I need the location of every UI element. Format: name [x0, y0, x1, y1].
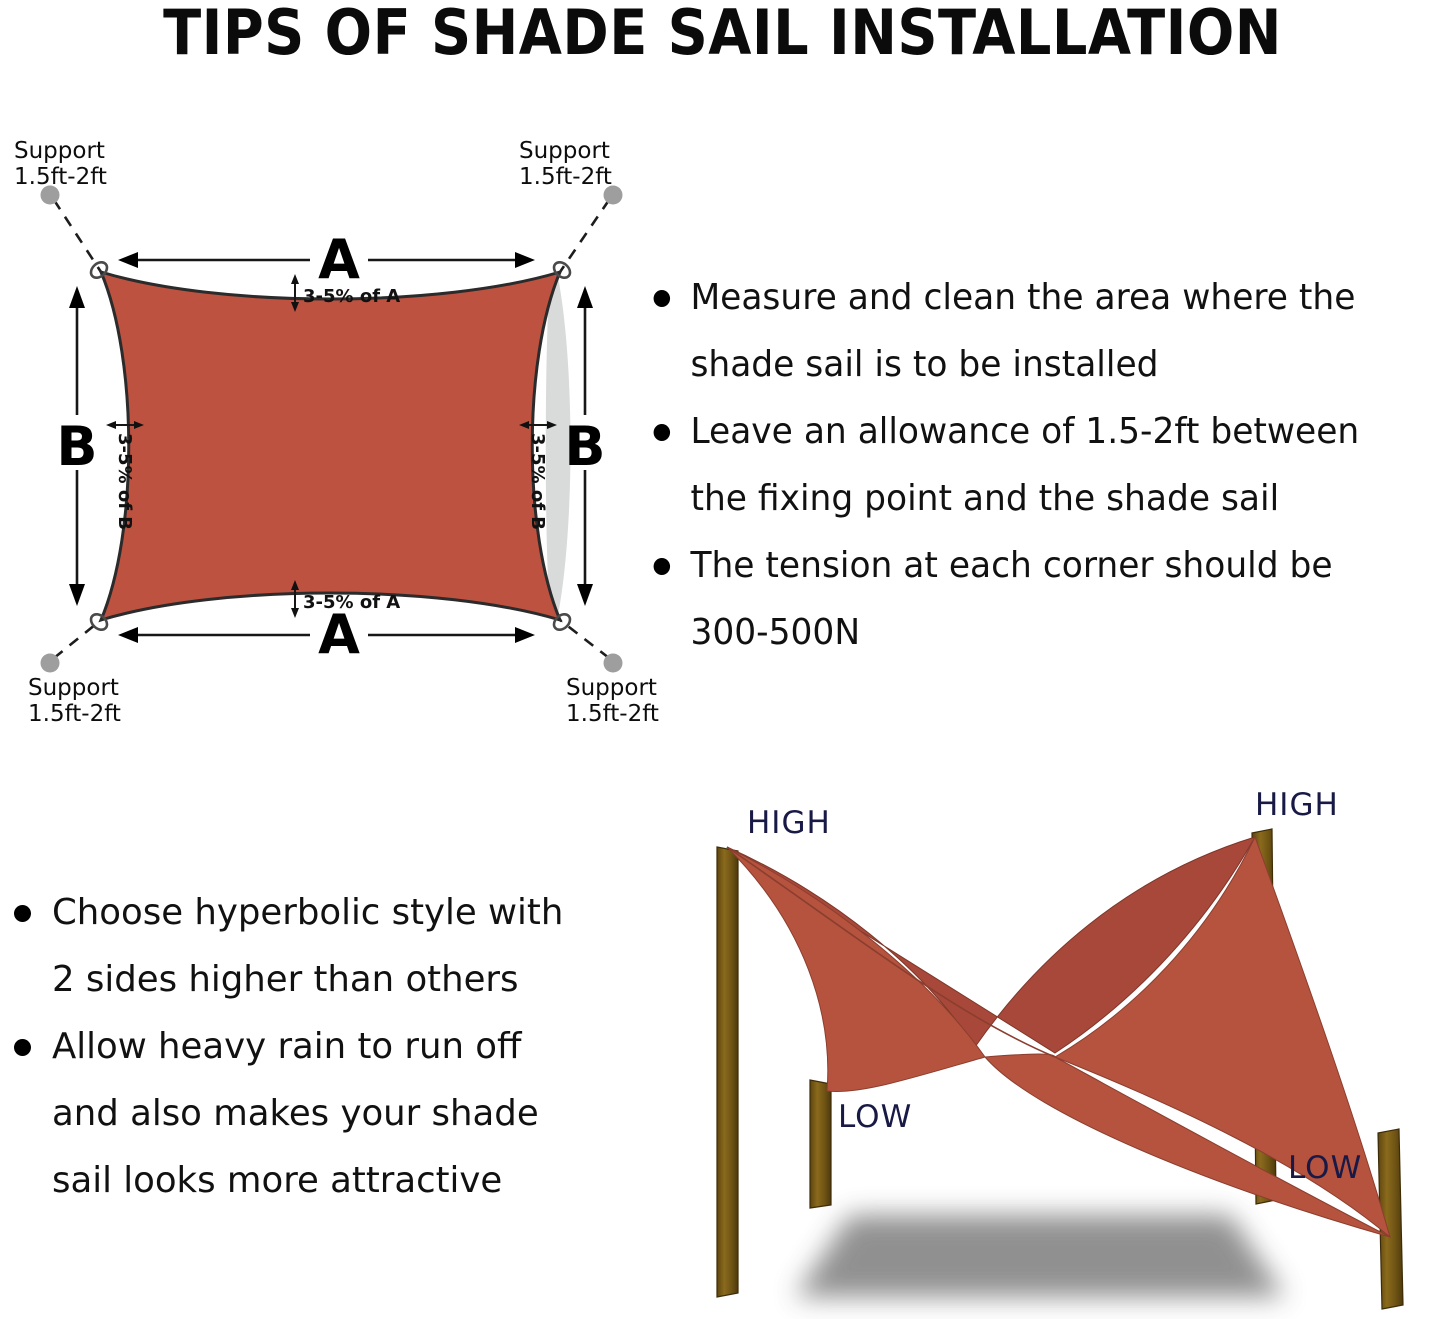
sag-top-a-arrow-up	[291, 274, 299, 284]
dim-bottom-a-arrow-left	[118, 627, 138, 643]
tip-line: 2 sides higher than others	[52, 959, 519, 1000]
support-bottom-right-line1: Support	[566, 675, 657, 701]
tip-line: Measure and clean the area where the	[690, 277, 1355, 318]
tip-item: Measure and clean the area where the	[640, 265, 1421, 330]
support-text-bottom-left: Support 1.5ft-2ft	[28, 675, 121, 727]
tip-line: The tension at each corner should be	[690, 545, 1332, 586]
dim-label-right-b: B	[564, 415, 605, 478]
installation-tips-panel: Measure and clean the area where the sha…	[640, 265, 1445, 665]
dim-left-b-arrow-down	[69, 584, 85, 606]
support-dot-bottom-right	[604, 654, 623, 673]
support-bottom-left-line1: Support	[28, 675, 119, 701]
hyperbolic-tips-list: Choose hyperbolic style with 2 sides hig…	[0, 880, 640, 1213]
tip-item: Leave an allowance of 1.5-2ft between	[640, 399, 1421, 464]
hyperbolic-sail-svg: HIGH HIGH LOW LOW	[655, 785, 1445, 1319]
sag-label-left-b: 3-5% of B	[114, 433, 135, 530]
tip-line: Leave an allowance of 1.5-2ft between	[690, 411, 1359, 452]
sag-bottom-a-arrow-down	[291, 608, 299, 618]
sag-label-right-b: 3-5% of B	[527, 433, 548, 530]
label-low-right: LOW	[1288, 1150, 1362, 1186]
tip-item-cont: 300-500N	[640, 600, 1421, 665]
support-text-top-left: Support 1.5ft-2ft	[14, 138, 107, 190]
label-low-left: LOW	[838, 1099, 912, 1135]
dim-left-b-arrow-up	[69, 286, 85, 308]
hyperbolic-tips-panel: Choose hyperbolic style with 2 sides hig…	[0, 880, 640, 1220]
sag-left-b-arrow-left	[106, 421, 116, 429]
dim-label-left-b: B	[56, 415, 97, 478]
rect-sail-diagram-panel: A 3-5% of A A 3-5% of A	[0, 160, 660, 740]
tether-top-right	[560, 200, 609, 272]
tip-line: shade sail is to be installed	[690, 344, 1158, 385]
tip-item-cont: sail looks more attractive	[0, 1148, 640, 1213]
tip-line: 300-500N	[690, 612, 860, 653]
support-top-right-line1: Support	[519, 138, 610, 164]
page-title: TIPS OF SHADE SAIL INSTALLATION	[72, 0, 1373, 69]
sag-label-bottom-a: 3-5% of A	[303, 592, 400, 613]
bullet-icon	[14, 905, 31, 922]
tip-item-cont: the fixing point and the shade sail	[640, 466, 1421, 531]
bullet-icon	[654, 558, 670, 575]
support-dot-bottom-left	[41, 654, 60, 673]
bullet-icon	[654, 290, 670, 307]
bullet-icon	[14, 1039, 31, 1056]
dim-bottom-a-arrow-right	[515, 627, 535, 643]
tip-line: Choose hyperbolic style with	[52, 892, 563, 933]
post-left-high	[717, 847, 738, 1297]
shade-sail-installation-infographic: TIPS OF SHADE SAIL INSTALLATION	[0, 0, 1445, 1319]
bullet-icon	[654, 424, 670, 441]
support-bottom-left-line2: 1.5ft-2ft	[28, 701, 121, 727]
tether-top-left	[54, 200, 101, 272]
dim-right-b-arrow-down	[577, 584, 593, 606]
dim-label-top-a: A	[318, 228, 360, 291]
support-top-right-line2: 1.5ft-2ft	[519, 164, 612, 190]
tip-item: Choose hyperbolic style with	[0, 880, 640, 945]
sail-lobe-front-left	[727, 847, 985, 1092]
label-high-right: HIGH	[1255, 787, 1339, 823]
tip-line: the fixing point and the shade sail	[690, 478, 1279, 519]
tip-item-cont: 2 sides higher than others	[0, 947, 640, 1012]
shade-sail-shape	[101, 272, 560, 620]
tip-line: and also makes your shade	[52, 1093, 539, 1134]
support-top-left-line2: 1.5ft-2ft	[14, 164, 107, 190]
support-bottom-right-line2: 1.5ft-2ft	[566, 701, 659, 727]
support-text-bottom-right: Support 1.5ft-2ft	[566, 675, 659, 727]
dim-top-a-arrow-left	[118, 252, 138, 268]
tip-item: Allow heavy rain to run off	[0, 1014, 640, 1079]
support-text-top-right: Support 1.5ft-2ft	[519, 138, 612, 190]
dim-right-b-arrow-up	[577, 286, 593, 308]
tip-item: The tension at each corner should be	[640, 533, 1421, 598]
tip-item-cont: and also makes your shade	[0, 1081, 640, 1146]
hyperbolic-sail-panel: HIGH HIGH LOW LOW	[655, 785, 1445, 1319]
tip-line: Allow heavy rain to run off	[52, 1026, 521, 1067]
tip-item-cont: shade sail is to be installed	[640, 332, 1421, 397]
sag-label-top-a: 3-5% of A	[303, 286, 400, 307]
tip-line: sail looks more attractive	[52, 1160, 502, 1201]
support-top-left-line1: Support	[14, 138, 105, 164]
rect-sail-diagram-svg: A 3-5% of A A 3-5% of A	[0, 160, 660, 740]
ground-shadow	[795, 1215, 1285, 1297]
dim-top-a-arrow-right	[515, 252, 535, 268]
label-high-left: HIGH	[747, 805, 831, 841]
post-left-low	[810, 1080, 831, 1208]
installation-tips-list: Measure and clean the area where the sha…	[640, 265, 1445, 665]
